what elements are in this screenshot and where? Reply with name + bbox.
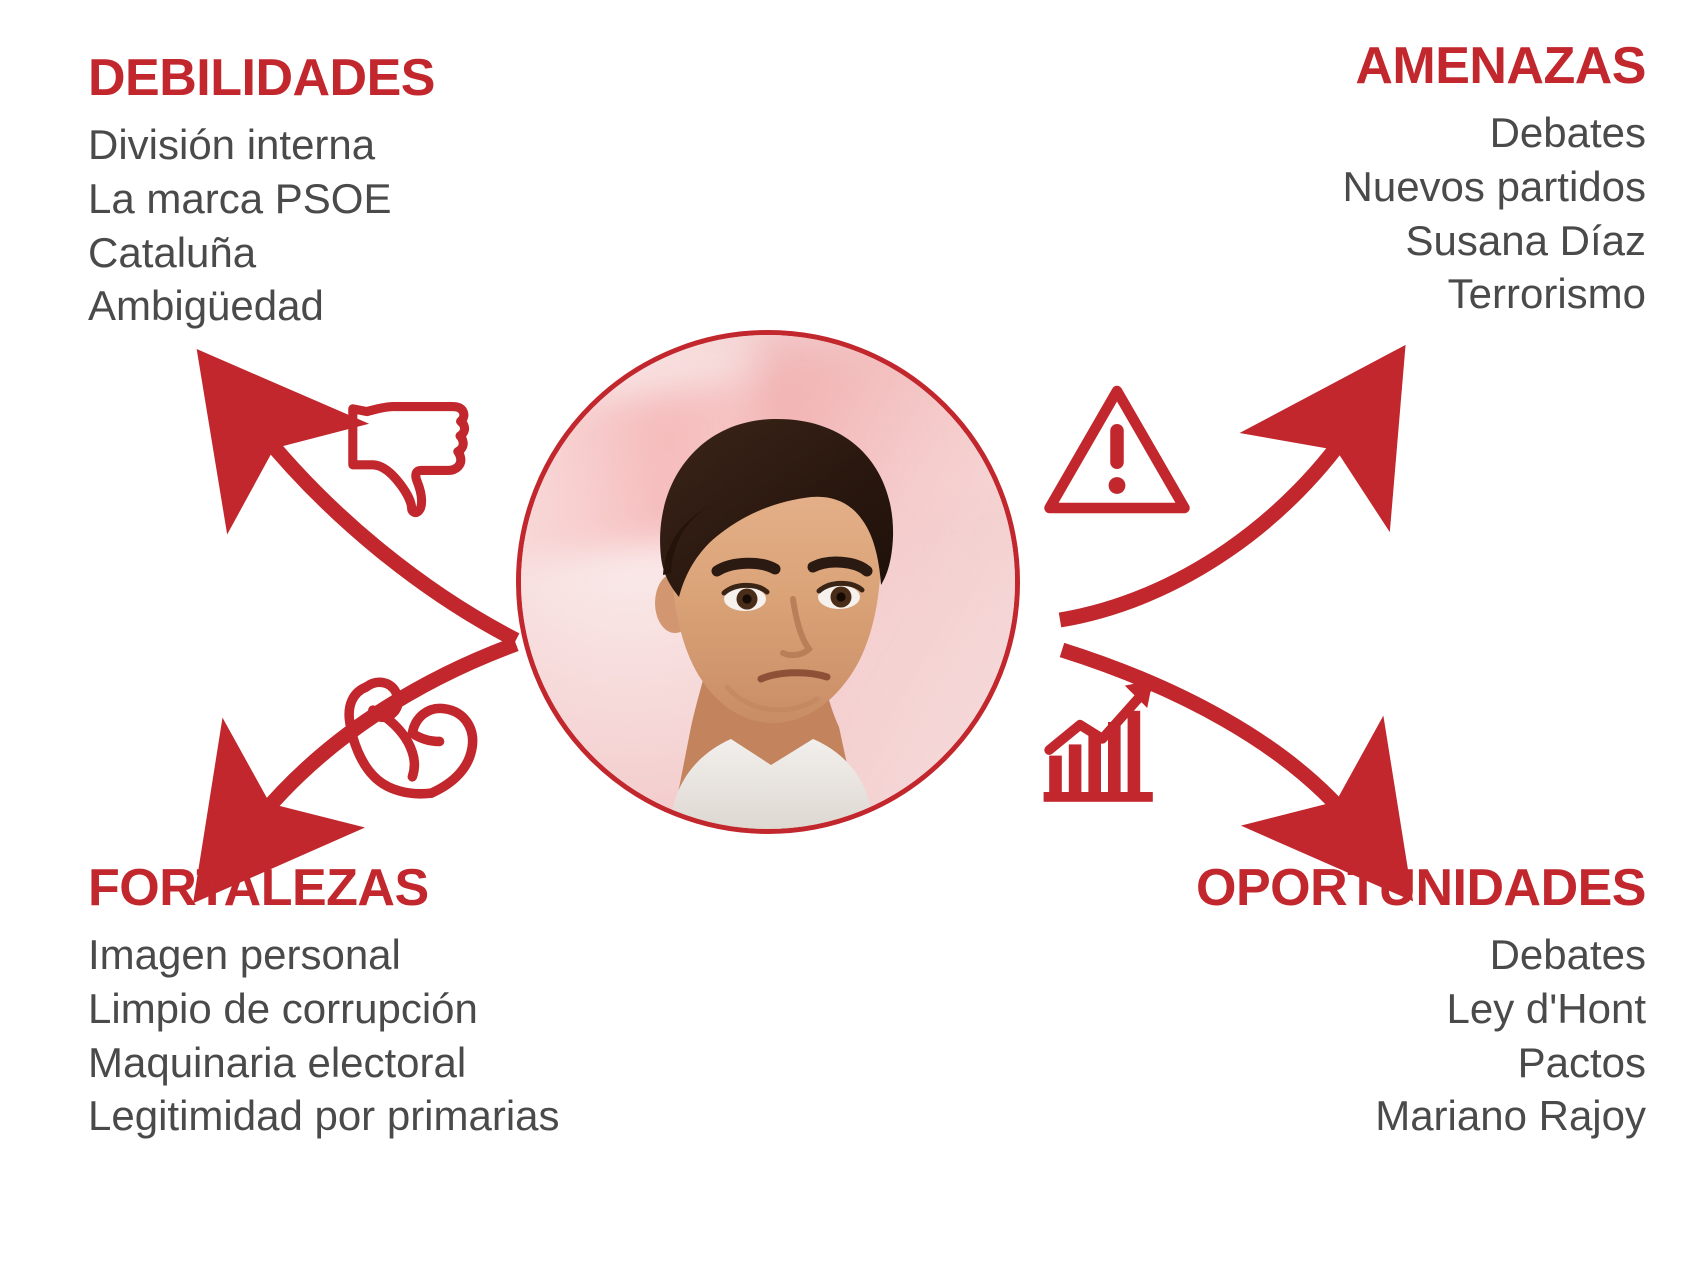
quadrant-list-amenazas: Debates Nuevos partidos Susana Díaz Terr… (1343, 106, 1647, 321)
quadrant-title-oportunidades: OPORTUNIDADES (1196, 862, 1646, 914)
warning-triangle-icon (1042, 378, 1192, 518)
list-item: Cataluña (88, 226, 435, 280)
list-item: La marca PSOE (88, 172, 435, 226)
list-item: Terrorismo (1343, 267, 1647, 321)
quadrant-debilidades: DEBILIDADES División interna La marca PS… (88, 52, 435, 333)
quadrant-oportunidades: OPORTUNIDADES Debates Ley d'Hont Pactos … (1196, 862, 1646, 1143)
quadrant-list-debilidades: División interna La marca PSOE Cataluña … (88, 118, 435, 333)
list-item: Imagen personal (88, 928, 560, 982)
list-item: Ley d'Hont (1196, 982, 1646, 1036)
quadrant-list-fortalezas: Imagen personal Limpio de corrupción Maq… (88, 928, 560, 1143)
swot-diagram: DEBILIDADES División interna La marca PS… (0, 0, 1706, 1280)
quadrant-title-fortalezas: FORTALEZAS (88, 862, 560, 914)
list-item: Ambigüedad (88, 279, 435, 333)
quadrant-title-amenazas: AMENAZAS (1343, 40, 1647, 92)
quadrant-list-oportunidades: Debates Ley d'Hont Pactos Mariano Rajoy (1196, 928, 1646, 1143)
list-item: Maquinaria electoral (88, 1036, 560, 1090)
list-item: Susana Díaz (1343, 214, 1647, 268)
list-item: Debates (1196, 928, 1646, 982)
flexed-bicep-icon (336, 668, 486, 804)
list-item: Legitimidad por primarias (88, 1089, 560, 1143)
quadrant-amenazas: AMENAZAS Debates Nuevos partidos Susana … (1343, 40, 1647, 321)
growth-chart-icon (1038, 668, 1178, 804)
list-item: Pactos (1196, 1036, 1646, 1090)
portrait-illustration (521, 335, 1015, 829)
quadrant-fortalezas: FORTALEZAS Imagen personal Limpio de cor… (88, 862, 560, 1143)
list-item: División interna (88, 118, 435, 172)
center-portrait (516, 330, 1020, 834)
thumbs-down-icon (336, 378, 476, 518)
list-item: Debates (1343, 106, 1647, 160)
list-item: Limpio de corrupción (88, 982, 560, 1036)
quadrant-title-debilidades: DEBILIDADES (88, 52, 435, 104)
list-item: Mariano Rajoy (1196, 1089, 1646, 1143)
list-item: Nuevos partidos (1343, 160, 1647, 214)
